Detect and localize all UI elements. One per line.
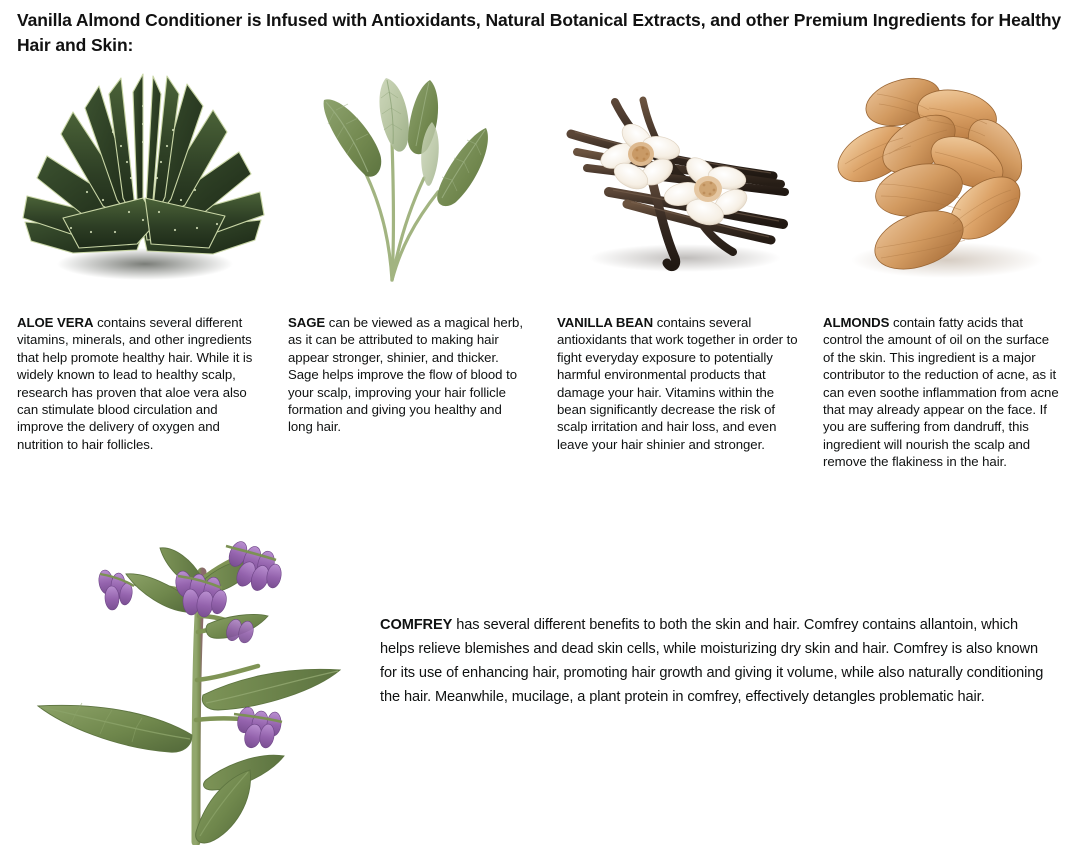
vanilla-bean-body: contains several antioxidants that work …	[557, 315, 798, 452]
comfrey-image	[20, 520, 365, 845]
aloe-vera-name: ALOE VERA	[17, 315, 94, 330]
comfrey-illustration	[20, 520, 365, 845]
aloe-vera-image	[17, 72, 267, 290]
sage-description: SAGE can be viewed as a magical herb, as…	[288, 314, 526, 436]
sage-illustration	[288, 72, 526, 290]
ingredient-card-row: ALOE VERA contains several different vit…	[0, 72, 1080, 492]
almonds-image	[823, 72, 1063, 290]
ingredients-page: Vanilla Almond Conditioner is Infused wi…	[0, 0, 1080, 845]
vanilla-bean-name: VANILLA BEAN	[557, 315, 653, 330]
almonds-body: contain fatty acids that control the amo…	[823, 315, 1059, 469]
sage-body: can be viewed as a magical herb, as it c…	[288, 315, 523, 434]
vanilla-bean-image	[557, 72, 802, 290]
aloe-vera-body: contains several different vitamins, min…	[17, 315, 252, 452]
comfrey-description: COMFREY has several different benefits t…	[380, 613, 1050, 709]
comfrey-body: has several different benefits to both t…	[380, 617, 1043, 705]
comfrey-name: COMFREY	[380, 617, 452, 633]
almonds-name: ALMONDS	[823, 315, 889, 330]
ingredient-card-comfrey: COMFREY has several different benefits t…	[0, 515, 1080, 845]
sage-image	[288, 72, 526, 290]
sage-name: SAGE	[288, 315, 325, 330]
ingredient-card-sage: SAGE can be viewed as a magical herb, as…	[288, 72, 526, 436]
vanilla-bean-illustration	[557, 72, 802, 290]
vanilla-bean-description: VANILLA BEAN contains several antioxidan…	[557, 314, 802, 453]
aloe-vera-illustration	[17, 72, 267, 290]
page-title: Vanilla Almond Conditioner is Infused wi…	[17, 8, 1063, 58]
ingredient-card-vanilla-bean: VANILLA BEAN contains several antioxidan…	[557, 72, 802, 453]
aloe-vera-description: ALOE VERA contains several different vit…	[17, 314, 267, 453]
almonds-illustration	[823, 72, 1063, 290]
ingredient-card-almonds: ALMONDS contain fatty acids that control…	[823, 72, 1063, 471]
ingredient-card-aloe-vera: ALOE VERA contains several different vit…	[17, 72, 267, 453]
almonds-description: ALMONDS contain fatty acids that control…	[823, 314, 1063, 471]
